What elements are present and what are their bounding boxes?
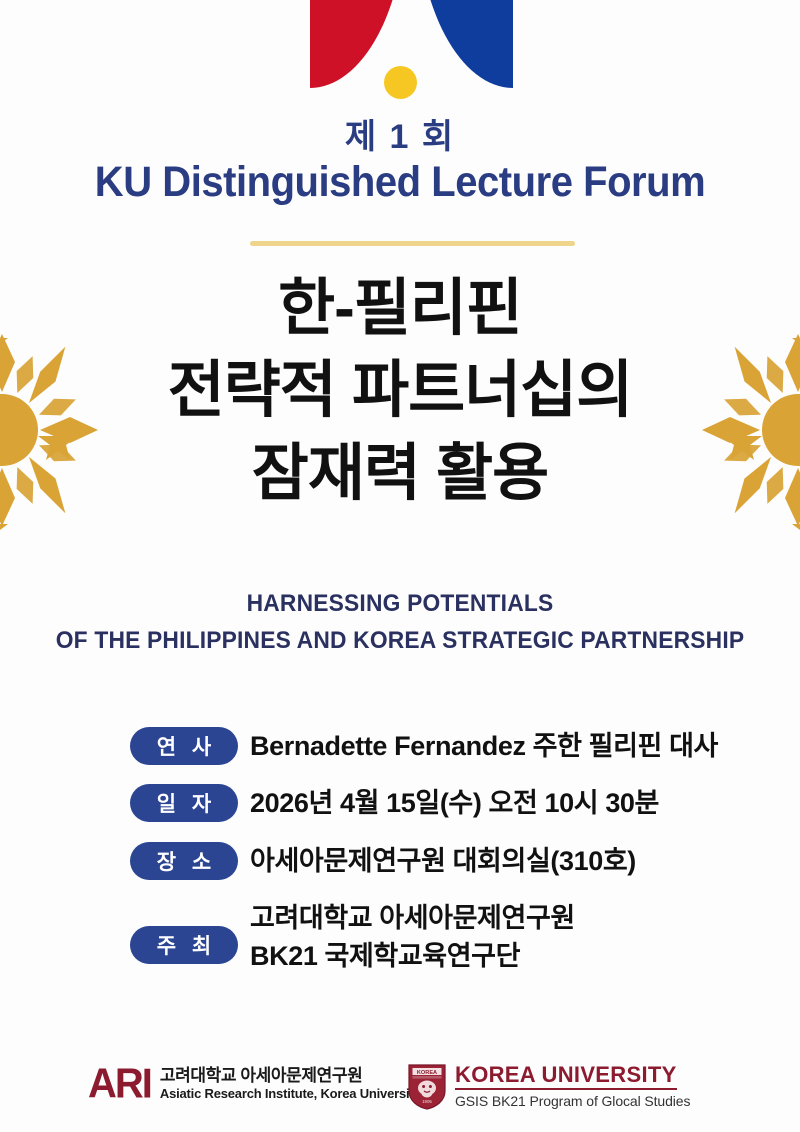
main-title-line-3: 잠재력 활용 bbox=[0, 433, 800, 515]
ari-wordmark-icon: ARI bbox=[88, 1063, 151, 1105]
label-pill-venue: 장 소 bbox=[130, 842, 238, 880]
english-subtitle: HARNESSING POTENTIALS OF THE PHILIPPINES… bbox=[20, 585, 780, 659]
label-pill-speaker: 연 사 bbox=[130, 727, 238, 765]
forum-title: KU Distinguished Lecture Forum bbox=[28, 158, 772, 206]
korea-university-logo-text: KOREA UNIVERSITY GSIS BK21 Program of Gl… bbox=[455, 1062, 690, 1111]
korea-university-logo: KOREA 1905 KOREA UNIVERSITY GSIS BK21 Pr… bbox=[408, 1062, 690, 1111]
event-details: 연 사 Bernadette Fernandez 주한 필리핀 대사 일 자 2… bbox=[130, 727, 770, 995]
detail-row-venue: 장 소 아세아문제연구원 대회의실(310호) bbox=[130, 842, 770, 880]
korea-university-program: GSIS BK21 Program of Glocal Studies bbox=[455, 1092, 690, 1111]
subtitle-line-1: HARNESSING POTENTIALS bbox=[20, 585, 780, 622]
host-line-1: 고려대학교 아세아문제연구원 bbox=[250, 899, 575, 937]
detail-value-host: 고려대학교 아세아문제연구원 BK21 국제학교육연구단 bbox=[250, 899, 575, 976]
lecture-forum-poster: 제 1 회 KU Distinguished Lecture Forum bbox=[0, 0, 800, 1132]
ari-name-english: Asiatic Research Institute, Korea Univer… bbox=[160, 1086, 421, 1102]
label-pill-host: 주 최 bbox=[130, 926, 238, 964]
svg-text:1905: 1905 bbox=[422, 1099, 432, 1104]
svg-text:KOREA: KOREA bbox=[417, 1070, 437, 1076]
detail-value-date: 2026년 4월 15일(수) 오전 10시 30분 bbox=[250, 784, 659, 822]
speaker-line-1: Bernadette Fernandez 주한 필리핀 대사 bbox=[250, 727, 718, 765]
korea-philippines-emblem bbox=[0, 0, 800, 115]
detail-value-speaker: Bernadette Fernandez 주한 필리핀 대사 bbox=[250, 727, 718, 765]
ari-name-korean: 고려대학교 아세아문제연구원 bbox=[160, 1066, 421, 1086]
host-line-2: BK21 국제학교육연구단 bbox=[250, 937, 575, 975]
issue-number: 제 1 회 bbox=[0, 120, 800, 156]
korea-university-name: KOREA UNIVERSITY bbox=[455, 1062, 677, 1090]
detail-row-host: 주 최 고려대학교 아세아문제연구원 BK21 국제학교육연구단 bbox=[130, 899, 770, 976]
poster-header: 제 1 회 KU Distinguished Lecture Forum bbox=[0, 120, 800, 206]
gold-divider bbox=[250, 241, 575, 246]
subtitle-line-2: OF THE PHILIPPINES AND KOREA STRATEGIC P… bbox=[20, 622, 780, 659]
date-line-1: 2026년 4월 15일(수) 오전 10시 30분 bbox=[250, 784, 659, 822]
yellow-circle-shape bbox=[384, 66, 417, 99]
label-pill-date: 일 자 bbox=[130, 784, 238, 822]
detail-value-venue: 아세아문제연구원 대회의실(310호) bbox=[250, 842, 636, 880]
venue-line-1: 아세아문제연구원 대회의실(310호) bbox=[250, 842, 636, 880]
blue-petal-shape bbox=[417, 0, 513, 88]
detail-row-date: 일 자 2026년 4월 15일(수) 오전 10시 30분 bbox=[130, 784, 770, 822]
poster-footer: ARI 고려대학교 아세아문제연구원 Asiatic Research Inst… bbox=[0, 1058, 800, 1128]
main-title-line-1: 한-필리핀 bbox=[0, 268, 800, 350]
korea-university-crest-icon: KOREA 1905 bbox=[408, 1064, 446, 1110]
detail-row-speaker: 연 사 Bernadette Fernandez 주한 필리핀 대사 bbox=[130, 727, 770, 765]
ari-logo: ARI 고려대학교 아세아문제연구원 Asiatic Research Inst… bbox=[88, 1064, 421, 1104]
ari-logo-text: 고려대학교 아세아문제연구원 Asiatic Research Institut… bbox=[160, 1066, 421, 1103]
main-title: 한-필리핀 전략적 파트너십의 잠재력 활용 bbox=[0, 268, 800, 515]
main-title-line-2: 전략적 파트너십의 bbox=[0, 350, 800, 432]
